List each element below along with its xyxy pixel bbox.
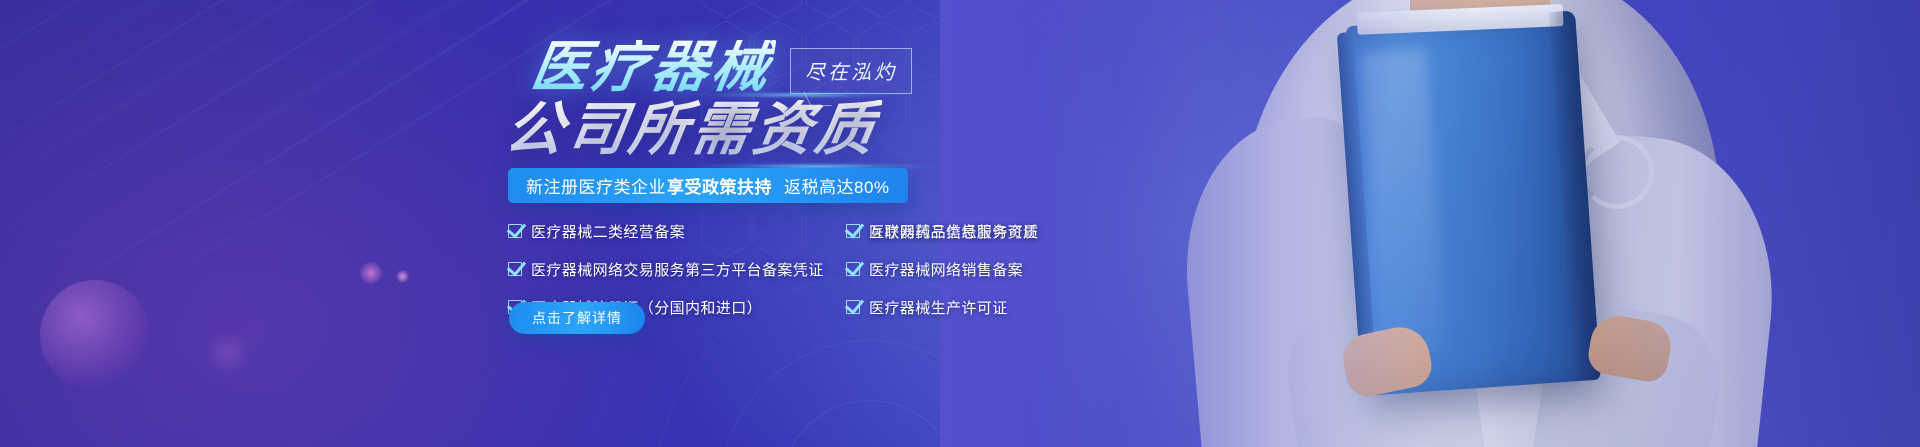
checkbox-checked-icon <box>846 300 860 314</box>
checklist-item-label: 医疗器械网络交易服务第三方平台备案凭证 <box>531 259 824 280</box>
learn-more-button[interactable]: 点击了解详情 <box>509 302 645 334</box>
checkbox-checked-icon <box>846 224 860 238</box>
tagline-suffix: 返税高达80% <box>784 173 890 198</box>
headline-row-primary: 医疗器械 尽在泓灼 <box>532 40 912 96</box>
checklist-item-label: 医疗器械生产许可证 <box>869 297 1008 318</box>
policy-tagline-pill: 新注册医疗类企业 享受政策扶持 返税高达80% <box>508 168 908 203</box>
checkbox-checked-icon <box>508 224 522 238</box>
headline-badge-label: 尽在泓灼 <box>805 62 897 84</box>
medical-device-promo-banner: 医疗器械 尽在泓灼 公司所需资质 新注册医疗类企业 享受政策扶持 返税高达80%… <box>0 0 1920 447</box>
checklist-item-label: 医疗器械二类经营备案 <box>531 221 685 242</box>
headline-line-1: 医疗器械 <box>528 40 777 96</box>
tagline-prefix: 新注册医疗类企业 <box>526 173 666 198</box>
banner-content: 医疗器械 尽在泓灼 公司所需资质 新注册医疗类企业 享受政策扶持 返税高达80%… <box>0 0 1100 447</box>
checklist-column-right: 互联网药品信息服务资质 医疗器械网络销售备案 医疗器械生产许可证 <box>846 216 1038 330</box>
checklist-item-label: 医疗器械网络销售备案 <box>869 259 1023 280</box>
headline-badge-bubble: 尽在泓灼 <box>790 48 912 94</box>
checklist-item: 医疗器械二类经营备案 <box>508 216 858 246</box>
checkbox-checked-icon <box>508 262 522 276</box>
checklist-item: 互联网药品信息服务资质 <box>846 216 1038 246</box>
checkbox-checked-icon <box>846 262 860 276</box>
checklist-item: 医疗器械网络销售备案 <box>846 254 1038 284</box>
checklist-item: 医疗器械网络交易服务第三方平台备案凭证 <box>508 254 858 284</box>
headline-line-2: 公司所需资质 <box>501 100 882 158</box>
tagline-strong: 享受政策扶持 <box>667 173 772 198</box>
checklist-item-label: 互联网药品信息服务资质 <box>869 221 1038 242</box>
checklist-item: 医疗器械生产许可证 <box>846 292 1038 322</box>
